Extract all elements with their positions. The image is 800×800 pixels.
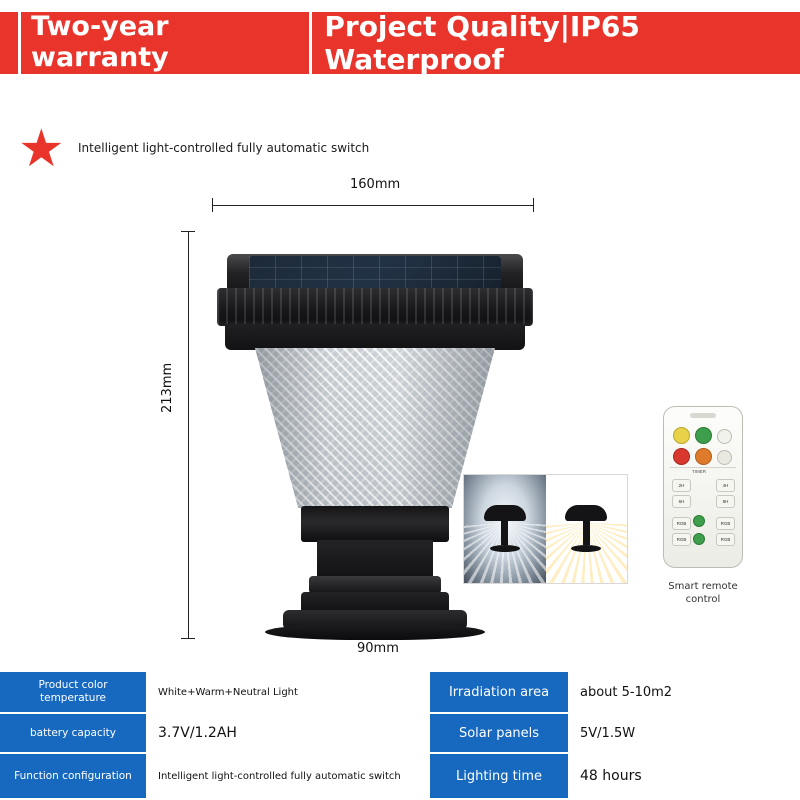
spec-value-irradiation-area: about 5-10m2 xyxy=(570,672,800,714)
remote-caption: Smart remote control xyxy=(648,580,758,606)
remote-caption-line1: Smart remote xyxy=(668,581,737,592)
dimension-line-height xyxy=(188,231,189,639)
spec-table: Product color temperature White+Warm+Neu… xyxy=(0,672,800,800)
spec-key-solar-panels: Solar panels xyxy=(430,714,570,754)
spec-key-irradiation-area: Irradiation area xyxy=(430,672,570,714)
remote-button-green-small-2[interactable] xyxy=(693,533,705,545)
spec-value-solar-panels: 5V/1.5W xyxy=(570,714,800,754)
lamp-lower-rim xyxy=(225,324,525,350)
spec-key-lighting-time: Lighting time xyxy=(430,754,570,800)
remote-button-yellow[interactable] xyxy=(673,427,690,444)
remote-button-white[interactable] xyxy=(717,429,732,444)
dimension-line-top xyxy=(212,205,534,206)
photo-warm-light xyxy=(546,475,628,583)
dimension-tick-height-top xyxy=(181,231,195,232)
remote-button-green[interactable] xyxy=(695,427,712,444)
remote-button-orange[interactable] xyxy=(695,448,712,465)
warranty-badge-label: Two-year warranty xyxy=(31,11,169,73)
remote-key-8h[interactable]: 8H xyxy=(716,495,735,508)
remote-button-mode[interactable] xyxy=(717,450,732,465)
dimension-label-height: 213mm xyxy=(160,363,175,413)
spec-value-lighting-time: 48 hours xyxy=(570,754,800,800)
promo-banner: Two-year warranty Project Quality|IP65 W… xyxy=(0,12,800,74)
remote-button-red[interactable] xyxy=(673,448,690,465)
lamp-glass-shade xyxy=(255,348,495,508)
solar-panel xyxy=(249,256,501,292)
remote-key-rgb-4[interactable]: RGB xyxy=(716,533,735,546)
remote-button-green-small-1[interactable] xyxy=(693,515,705,527)
star-icon: ★ xyxy=(18,128,66,174)
mini-lamp-warm xyxy=(565,505,607,552)
dimension-tick-top-right xyxy=(533,198,534,212)
table-row: battery capacity 3.7V/1.2AH Solar panels… xyxy=(0,714,800,754)
spec-key-battery-capacity: battery capacity xyxy=(0,714,148,754)
remote-key-rgb-1[interactable]: ROB xyxy=(672,517,691,530)
remote-key-4h[interactable]: 4H xyxy=(716,479,735,492)
lamp-upper-rim xyxy=(217,288,533,326)
remote-ir-window xyxy=(690,413,716,418)
banner-headline: Project Quality|IP65 Waterproof xyxy=(324,10,800,76)
spec-key-function-configuration: Function configuration xyxy=(0,754,148,800)
remote-key-2h[interactable]: 2H xyxy=(672,479,691,492)
remote-key-rgb-3[interactable]: RGB xyxy=(672,533,691,546)
remote-key-6h[interactable]: 6H xyxy=(672,495,691,508)
remote-key-rgb-2[interactable]: RGB xyxy=(716,517,735,530)
spec-key-color-temperature: Product color temperature xyxy=(0,672,148,714)
table-row: Function configuration Intelligent light… xyxy=(0,754,800,800)
lamp-base-lower xyxy=(265,624,485,640)
remote-timer-label: TIMER xyxy=(692,469,706,474)
remote-caption-line2: control xyxy=(686,594,721,605)
spec-value-battery-capacity: 3.7V/1.2AH xyxy=(148,714,430,754)
dimension-label-width-bottom: 90mm xyxy=(357,641,399,656)
dimension-label-width-top: 160mm xyxy=(350,177,400,192)
warranty-badge: Two-year warranty xyxy=(18,6,312,80)
dimension-tick-height-bottom xyxy=(181,638,195,639)
lighting-comparison-photo xyxy=(463,474,628,584)
mini-lamp-cool xyxy=(484,505,526,552)
remote-control: TIMER 2H 4H 6H 8H ROB RGB RGB RGB xyxy=(663,406,743,568)
remote-divider xyxy=(670,467,736,468)
dimension-tick-top-left xyxy=(212,198,213,212)
spec-value-function-configuration: Intelligent light-controlled fully autom… xyxy=(148,754,430,800)
spec-value-color-temperature: White+Warm+Neutral Light xyxy=(148,672,430,714)
lamp-neck xyxy=(301,506,449,542)
highlight-text: Intelligent light-controlled fully autom… xyxy=(78,141,369,155)
photo-cool-light xyxy=(464,475,546,583)
table-row: Product color temperature White+Warm+Neu… xyxy=(0,672,800,714)
